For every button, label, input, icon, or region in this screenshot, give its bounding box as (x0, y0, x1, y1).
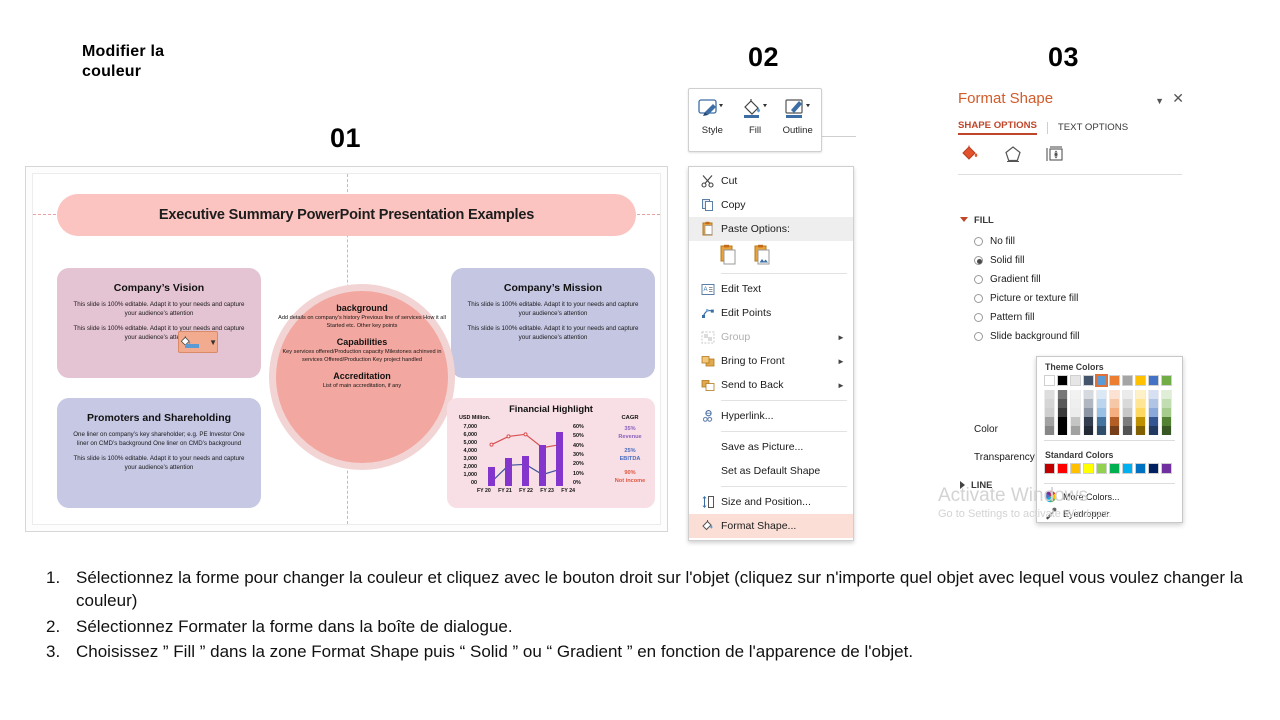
instruction-item: 2.Sélectionnez Formater la forme dans la… (46, 615, 1250, 638)
standard-colors-grid[interactable] (1037, 463, 1182, 478)
instruction-text: Sélectionnez Formater la forme dans la b… (76, 615, 1250, 638)
theme-color-variant[interactable] (1057, 399, 1068, 408)
watermark-line1: Activate Windows (938, 484, 1112, 508)
x-tick: FY 20 (477, 488, 491, 494)
theme-color-variant[interactable] (1135, 408, 1146, 417)
radio-label: Pattern fill (990, 312, 1034, 323)
radio-button[interactable] (974, 332, 983, 341)
card-company-vision: Company’s Vision This slide is 100% edit… (57, 268, 261, 378)
color-swatch (185, 344, 199, 348)
none (695, 438, 721, 456)
instruction-item: 3.Choisissez ” Fill ” dans la zone Forma… (46, 640, 1250, 663)
cagr-label: Revenue (603, 434, 657, 442)
standard-color-swatch[interactable] (1096, 463, 1107, 474)
menu-item-label: Bring to Front (721, 355, 835, 367)
y-tick-left: 2,000 (455, 464, 477, 470)
toolbar-button-outline[interactable]: Outline (776, 95, 819, 136)
theme-color-variant[interactable] (1161, 408, 1172, 417)
hyperlink-icon (695, 407, 721, 425)
y-tick-left: 00 (455, 480, 477, 486)
step-number-02: 02 (748, 42, 779, 73)
clipboard-icon (695, 220, 721, 238)
shape-style-icon (691, 95, 734, 123)
circle-block-body: Key services offered/Production capacity… (276, 349, 448, 365)
theme-color-variant[interactable] (1135, 399, 1146, 408)
theme-color-variant[interactable] (1070, 390, 1081, 399)
theme-color-variant[interactable] (1109, 417, 1120, 426)
toolbar-connector (820, 136, 856, 137)
card-body-1: One liner on company’s key shareholder; … (69, 431, 249, 449)
page-title-line2: couleur (82, 62, 164, 82)
chart-y-axis-right: 60%50%40%30%20%10%0% (573, 424, 595, 486)
circle-block-body: Add details on company’s history Previou… (276, 315, 448, 331)
card-body-2: This slide is 100% editable. Adapt it to… (69, 325, 249, 343)
theme-color-variant[interactable] (1044, 399, 1055, 408)
size-position-icon (695, 493, 721, 511)
divider (1044, 440, 1175, 441)
y-tick-right: 60% (573, 424, 595, 430)
chevron-down-icon[interactable]: ▼ (209, 338, 217, 347)
radio-slide-background-fill[interactable]: Slide background fill (974, 331, 1080, 342)
watermark-line2: Go to Settings to activate Windows. (938, 508, 1112, 522)
theme-color-column[interactable] (1096, 375, 1107, 435)
radio-gradient-fill[interactable]: Gradient fill (974, 274, 1041, 285)
radio-button[interactable] (974, 275, 983, 284)
chart-bar (539, 445, 546, 486)
circle-block-body: List of main accreditation, if any (276, 383, 448, 391)
theme-color-column[interactable] (1083, 375, 1094, 435)
theme-color-swatch[interactable] (1161, 375, 1172, 386)
theme-color-variant[interactable] (1148, 399, 1159, 408)
radio-picture-or-texture-fill[interactable]: Picture or texture fill (974, 293, 1078, 304)
theme-color-column[interactable] (1122, 375, 1133, 435)
circle-block-title: Accreditation (276, 371, 448, 381)
menu-item-save-as-picture[interactable]: Save as Picture... (689, 435, 853, 459)
menu-divider (721, 273, 847, 274)
theme-color-variant[interactable] (1122, 417, 1133, 426)
theme-color-variant[interactable] (1161, 390, 1172, 399)
theme-color-swatch[interactable] (1109, 375, 1120, 386)
format-shape-icon (695, 517, 721, 535)
card-promoters-shareholding: Promoters and Shareholding One liner on … (57, 398, 261, 508)
label-transparency: Transparency (974, 452, 1035, 463)
theme-colors-header: Theme Colors (1037, 357, 1182, 375)
menu-item-copy[interactable]: Copy (689, 193, 853, 217)
theme-color-variant[interactable] (1044, 408, 1055, 417)
theme-color-variant[interactable] (1148, 408, 1159, 417)
instructions-list: 1.Sélectionnez la forme pour changer la … (46, 566, 1250, 665)
submenu-arrow-icon: ► (835, 333, 847, 342)
theme-color-column[interactable] (1161, 375, 1172, 435)
menu-item-label: Copy (721, 199, 835, 211)
y-tick-left: 6,000 (455, 432, 477, 438)
paste-keep-formatting-icon[interactable] (719, 244, 739, 266)
chart-cagr-legend: CAGR 35%Revenue25%EBITDA90%Not income (603, 415, 657, 492)
slide-screenshot: Executive Summary PowerPoint Presentatio… (25, 166, 668, 532)
label-color: Color (974, 424, 998, 435)
theme-color-variant[interactable] (1096, 408, 1107, 417)
menu-item-edit-text[interactable]: AEdit Text (689, 277, 853, 301)
menu-item-label: Send to Back (721, 379, 835, 391)
theme-color-variant[interactable] (1148, 390, 1159, 399)
theme-color-variant[interactable] (1135, 426, 1146, 435)
card-title: Company’s Mission (463, 282, 643, 294)
close-icon[interactable]: ✕ (1172, 91, 1184, 105)
menu-item-paste-options[interactable]: Paste Options: (689, 217, 853, 241)
page-title: Modifier la couleur (82, 42, 164, 82)
menu-item-send-to-back[interactable]: Send to Back► (689, 373, 853, 397)
group-icon (695, 328, 721, 346)
radio-pattern-fill[interactable]: Pattern fill (974, 312, 1034, 323)
theme-color-swatch[interactable] (1096, 375, 1107, 386)
instruction-number: 2. (46, 615, 76, 638)
card-title: Company’s Vision (69, 282, 249, 294)
menu-item-label: Format Shape... (721, 520, 835, 532)
theme-color-variant[interactable] (1161, 426, 1172, 435)
cagr-label: Not income (603, 478, 657, 486)
radio-button[interactable] (974, 294, 983, 303)
theme-color-variant[interactable] (1148, 417, 1159, 426)
x-tick: FY 22 (519, 488, 533, 494)
page-title-line1: Modifier la (82, 42, 164, 62)
theme-color-swatch[interactable] (1057, 375, 1068, 386)
theme-color-swatch[interactable] (1148, 375, 1159, 386)
standard-color-swatch[interactable] (1161, 463, 1172, 474)
circle-block-title: Capabilities (276, 337, 448, 347)
financial-highlight-chart: Financial Highlight USD Million. 7,0006,… (447, 398, 655, 508)
y-tick-left: 7,000 (455, 424, 477, 430)
section-fill-label: FILL (974, 214, 994, 225)
standard-color-swatch[interactable] (1044, 463, 1055, 474)
paint-bucket-icon (734, 95, 777, 123)
radio-button[interactable] (974, 237, 983, 246)
toolbar-button-fill[interactable]: Fill (734, 95, 777, 136)
none (695, 462, 721, 480)
color-picker-button[interactable]: ▼ (178, 331, 218, 353)
y-tick-right: 10% (573, 471, 595, 477)
standard-color-swatch[interactable] (1070, 463, 1081, 474)
paste-options-row[interactable] (689, 241, 853, 270)
chart-x-axis: FY 20FY 21FY 22FY 23FY 24 (477, 488, 575, 494)
theme-color-variant[interactable] (1044, 417, 1055, 426)
theme-color-swatch[interactable] (1135, 375, 1146, 386)
card-title: Promoters and Shareholding (69, 412, 249, 424)
toolbar-label: Style (691, 125, 734, 136)
mini-toolbar: Style Fill Outline (688, 88, 822, 152)
theme-color-column[interactable] (1057, 375, 1068, 435)
menu-item-label: Edit Points (721, 307, 835, 319)
theme-color-variant[interactable] (1122, 390, 1133, 399)
pane-divider (958, 174, 1182, 175)
pane-tabs: SHAPE OPTIONS TEXT OPTIONS (958, 120, 1128, 135)
theme-color-variant[interactable] (1083, 417, 1094, 426)
radio-label: Solid fill (990, 255, 1024, 266)
theme-color-variant[interactable] (1057, 408, 1068, 417)
cagr-item: 35%Revenue (603, 426, 657, 441)
y-tick-left: 1,000 (455, 472, 477, 478)
theme-color-variant[interactable] (1044, 390, 1055, 399)
theme-color-variant[interactable] (1083, 408, 1094, 417)
menu-divider (721, 486, 847, 487)
theme-color-column[interactable] (1148, 375, 1159, 435)
standard-color-swatch[interactable] (1135, 463, 1146, 474)
radio-no-fill[interactable]: No fill (974, 236, 1015, 247)
theme-color-variant[interactable] (1044, 426, 1055, 435)
card-body-1: This slide is 100% editable. Adapt it to… (69, 301, 249, 319)
theme-color-variant[interactable] (1161, 399, 1172, 408)
instruction-item: 1.Sélectionnez la forme pour changer la … (46, 566, 1250, 613)
menu-item-bring-to-front[interactable]: Bring to Front► (689, 349, 853, 373)
y-tick-left: 4,000 (455, 448, 477, 454)
menu-item-group: Group► (689, 325, 853, 349)
paint-bucket-icon (179, 333, 193, 351)
theme-color-variant[interactable] (1135, 417, 1146, 426)
card-body-2: This slide is 100% editable. Adapt it to… (463, 325, 643, 343)
theme-color-swatch[interactable] (1070, 375, 1081, 386)
theme-color-variant[interactable] (1057, 426, 1068, 435)
theme-color-variant[interactable] (1109, 408, 1120, 417)
menu-item-label: Set as Default Shape (721, 465, 835, 477)
theme-color-variant[interactable] (1070, 417, 1081, 426)
menu-item-label: Hyperlink... (721, 410, 835, 422)
effects-icon[interactable] (1002, 144, 1024, 169)
standard-color-swatch[interactable] (1109, 463, 1120, 474)
menu-item-format-shape[interactable]: Format Shape... (689, 514, 853, 538)
radio-label: Picture or texture fill (990, 293, 1078, 304)
standard-colors-header: Standard Colors (1037, 445, 1182, 463)
tab-shape-options[interactable]: SHAPE OPTIONS (958, 120, 1037, 135)
radio-button[interactable] (974, 256, 983, 265)
theme-color-variant[interactable] (1122, 399, 1133, 408)
cagr-item: 90%Not income (603, 470, 657, 485)
menu-item-label: Size and Position... (721, 496, 835, 508)
theme-color-variant[interactable] (1148, 426, 1159, 435)
triangle-down-icon (960, 217, 968, 222)
theme-color-variant[interactable] (1070, 399, 1081, 408)
toolbar-button-style[interactable]: Style (691, 95, 734, 136)
radio-label: Slide background fill (990, 331, 1080, 342)
menu-item-set-as-default-shape[interactable]: Set as Default Shape (689, 459, 853, 483)
theme-color-variant[interactable] (1109, 390, 1120, 399)
cagr-label: EBITDA (603, 456, 657, 464)
submenu-arrow-icon: ► (835, 381, 847, 390)
chevron-down-icon[interactable]: ▼ (1155, 96, 1164, 106)
fill-and-line-icon[interactable] (960, 144, 982, 169)
y-tick-right: 40% (573, 443, 595, 449)
theme-color-column[interactable] (1109, 375, 1120, 435)
cagr-value: 35% (603, 426, 657, 434)
theme-color-variant[interactable] (1096, 390, 1107, 399)
chart-bar (556, 432, 563, 486)
submenu-arrow-icon: ► (835, 357, 847, 366)
radio-label: No fill (990, 236, 1015, 247)
menu-item-label: Edit Text (721, 283, 835, 295)
theme-color-variant[interactable] (1057, 417, 1068, 426)
card-body-2: This slide is 100% editable. Adapt it to… (69, 455, 249, 473)
section-fill[interactable]: FILL (960, 214, 994, 225)
theme-color-column[interactable] (1135, 375, 1146, 435)
cagr-item: 25%EBITDA (603, 448, 657, 463)
toolbar-label: Fill (734, 125, 777, 136)
theme-color-variant[interactable] (1083, 399, 1094, 408)
chart-plot-area (481, 424, 571, 486)
theme-color-swatch[interactable] (1044, 375, 1055, 386)
theme-color-variant[interactable] (1109, 399, 1120, 408)
theme-color-variant[interactable] (1161, 417, 1172, 426)
menu-item-cut[interactable]: Cut (689, 169, 853, 193)
x-tick: FY 21 (498, 488, 512, 494)
theme-colors-grid[interactable] (1037, 375, 1182, 435)
card-company-mission: Company’s Mission This slide is 100% edi… (451, 268, 655, 378)
circle-block-title: background (276, 303, 448, 313)
menu-item-label: Cut (721, 175, 835, 187)
bring-front-icon (695, 352, 721, 370)
y-tick-right: 30% (573, 452, 595, 458)
theme-color-column[interactable] (1070, 375, 1081, 435)
chart-unit-label: USD Million. (459, 415, 490, 421)
x-tick: FY 24 (561, 488, 575, 494)
x-tick: FY 23 (540, 488, 554, 494)
theme-color-variant[interactable] (1109, 426, 1120, 435)
pane-icon-tabs (960, 144, 1066, 169)
instruction-number: 3. (46, 640, 76, 663)
y-tick-left: 5,000 (455, 440, 477, 446)
cagr-header: CAGR (603, 415, 657, 421)
size-properties-icon[interactable] (1044, 144, 1066, 169)
chart-y-axis-left: 7,0006,0005,0004,0003,0002,0001,00000 (455, 424, 477, 486)
chart-title: Financial Highlight (453, 403, 649, 414)
chart-bar (522, 456, 529, 486)
theme-color-variant[interactable] (1122, 426, 1133, 435)
tab-text-options[interactable]: TEXT OPTIONS (1058, 122, 1128, 133)
menu-item-edit-points[interactable]: Edit Points (689, 301, 853, 325)
chart-bar (505, 458, 512, 486)
theme-color-variant[interactable] (1070, 426, 1081, 435)
step-number-03: 03 (1048, 42, 1079, 73)
menu-item-label: Group (721, 331, 835, 343)
card-body-1: This slide is 100% editable. Adapt it to… (463, 301, 643, 319)
send-back-icon (695, 376, 721, 394)
menu-item-hyperlink[interactable]: Hyperlink... (689, 404, 853, 428)
step-number-01: 01 (330, 123, 361, 154)
theme-color-swatch[interactable] (1122, 375, 1133, 386)
instruction-number: 1. (46, 566, 76, 613)
radio-button[interactable] (974, 313, 983, 322)
theme-color-variant[interactable] (1057, 390, 1068, 399)
instruction-text: Sélectionnez la forme pour changer la co… (76, 566, 1250, 613)
slide-title: Executive Summary PowerPoint Presentatio… (57, 194, 636, 236)
context-menu[interactable]: CutCopyPaste Options:AEdit TextEdit Poin… (688, 166, 854, 541)
menu-item-label: Save as Picture... (721, 441, 835, 453)
theme-color-column[interactable] (1044, 375, 1055, 435)
theme-color-variant[interactable] (1070, 408, 1081, 417)
cagr-value: 25% (603, 448, 657, 456)
standard-color-swatch[interactable] (1083, 463, 1094, 474)
theme-color-variant[interactable] (1096, 417, 1107, 426)
instruction-text: Choisissez ” Fill ” dans la zone Format … (76, 640, 1250, 663)
menu-divider (721, 400, 847, 401)
theme-color-variant[interactable] (1096, 426, 1107, 435)
standard-color-swatch[interactable] (1148, 463, 1159, 474)
menu-item-size-and-position[interactable]: Size and Position... (689, 490, 853, 514)
cagr-value: 90% (603, 470, 657, 478)
tab-divider (1047, 122, 1048, 134)
theme-color-variant[interactable] (1122, 408, 1133, 417)
chart-bar (488, 467, 495, 486)
edit-text-icon: A (695, 280, 721, 298)
paste-picture-icon[interactable] (753, 244, 773, 266)
theme-color-variant[interactable] (1096, 399, 1107, 408)
pen-outline-icon (776, 95, 819, 123)
center-circle: background Add details on company’s hist… (276, 291, 448, 463)
theme-color-variant[interactable] (1083, 426, 1094, 435)
svg-text:A: A (704, 287, 708, 293)
y-tick-right: 50% (573, 433, 595, 439)
toolbar-label: Outline (776, 125, 819, 136)
radio-solid-fill[interactable]: Solid fill (974, 255, 1024, 266)
edit-points-icon (695, 304, 721, 322)
theme-color-variant[interactable] (1135, 390, 1146, 399)
y-tick-left: 3,000 (455, 456, 477, 462)
windows-activation-watermark: Activate Windows Go to Settings to activ… (938, 484, 1112, 522)
pane-title: Format Shape (958, 90, 1053, 107)
scissors-icon (695, 172, 721, 190)
theme-color-variant[interactable] (1083, 390, 1094, 399)
copy-icon (695, 196, 721, 214)
menu-divider (721, 431, 847, 432)
radio-label: Gradient fill (990, 274, 1041, 285)
menu-item-label: Paste Options: (721, 223, 835, 235)
y-tick-right: 0% (573, 480, 595, 486)
standard-color-swatch[interactable] (1057, 463, 1068, 474)
standard-color-swatch[interactable] (1122, 463, 1133, 474)
y-tick-right: 20% (573, 461, 595, 467)
theme-color-swatch[interactable] (1083, 375, 1094, 386)
